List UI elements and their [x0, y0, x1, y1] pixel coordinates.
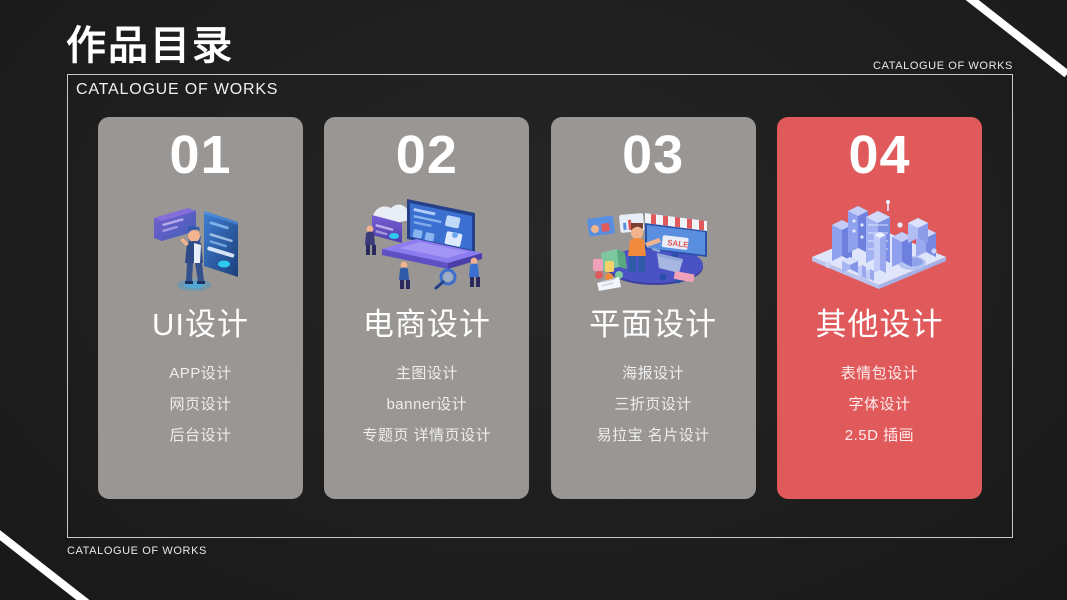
isometric-city-icon	[804, 190, 954, 292]
category-card-02[interactable]: 02	[324, 117, 529, 499]
card-item-list: 表情包设计 字体设计 2.5D 插画	[841, 362, 919, 445]
card-list-item: 海报设计	[622, 362, 684, 383]
card-title: UI设计	[152, 308, 249, 342]
category-card-list: 01	[98, 117, 982, 499]
card-list-item: 易拉宝 名片设计	[597, 424, 710, 445]
card-number: 01	[169, 128, 231, 182]
page-title: 作品目录	[66, 24, 234, 68]
card-title: 平面设计	[589, 308, 717, 342]
card-item-list: 主图设计 banner设计 专题页 详情页设计	[362, 362, 491, 445]
card-list-item: 专题页 详情页设计	[362, 424, 491, 445]
card-number: 03	[622, 128, 684, 182]
laptop-ecommerce-icon	[352, 190, 502, 292]
mobile-ui-person-icon	[126, 190, 276, 292]
kicker-top-right: CATALOGUE OF WORKS	[873, 60, 1013, 72]
card-list-item: 2.5D 插画	[845, 424, 914, 445]
category-card-03[interactable]: 03 SALE	[551, 117, 756, 499]
kicker-bottom-left: CATALOGUE OF WORKS	[67, 545, 207, 557]
decorative-stripe-bottom-left	[0, 528, 92, 600]
card-number: 04	[848, 128, 910, 182]
card-list-item: APP设计	[169, 362, 232, 383]
slide-catalogue-of-works: 作品目录 CATALOGUE OF WORKS CATALOGUE OF WOR…	[0, 0, 1067, 600]
card-item-list: APP设计 网页设计 后台设计	[169, 362, 232, 445]
card-list-item: 后台设计	[169, 424, 231, 445]
card-list-item: 字体设计	[848, 393, 910, 414]
card-list-item: 表情包设计	[841, 362, 919, 383]
card-item-list: 海报设计 三折页设计 易拉宝 名片设计	[597, 362, 710, 445]
card-list-item: 主图设计	[396, 362, 458, 383]
category-card-04[interactable]: 04	[777, 117, 982, 499]
card-list-item: 网页设计	[169, 393, 231, 414]
card-list-item: 三折页设计	[614, 393, 692, 414]
card-number: 02	[396, 128, 458, 182]
category-card-01[interactable]: 01	[98, 117, 303, 499]
card-list-item: banner设计	[386, 393, 467, 414]
card-title: 电商设计	[363, 308, 491, 342]
page-subtitle: CATALOGUE OF WORKS	[76, 81, 278, 99]
card-title: 其他设计	[815, 308, 943, 342]
shopping-storefront-icon: SALE	[578, 190, 728, 292]
